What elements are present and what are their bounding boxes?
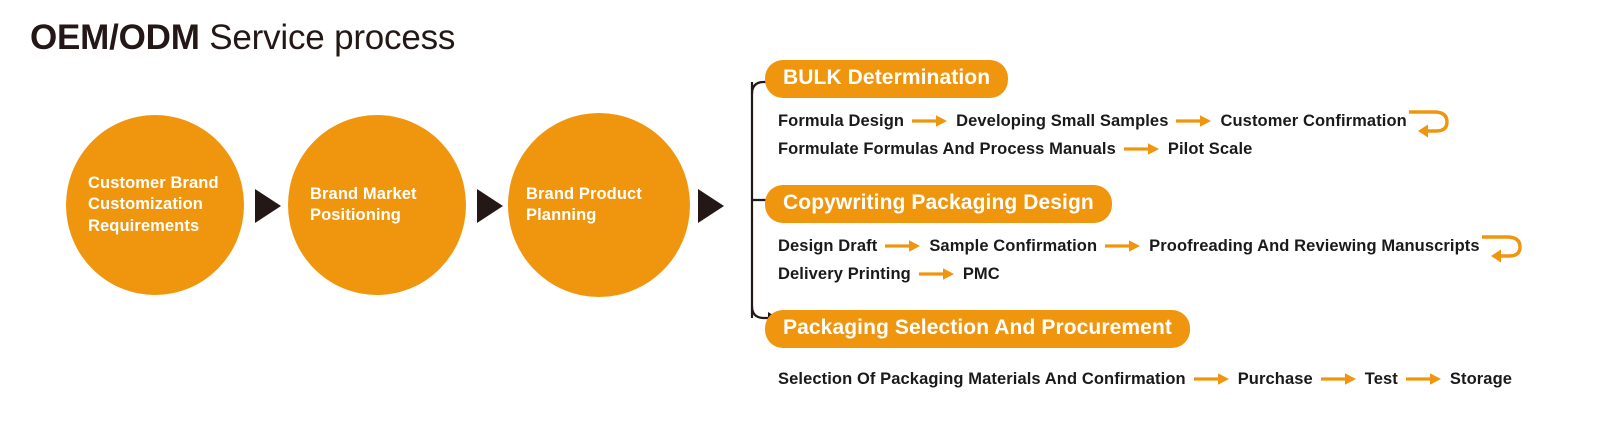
arrow-right-icon bbox=[1124, 142, 1160, 156]
step-label[interactable]: Test bbox=[1365, 369, 1398, 389]
stage-circle-1[interactable]: Customer Brand Customization Requirement… bbox=[66, 115, 244, 295]
step-label[interactable]: Formulate Formulas And Process Manuals bbox=[778, 139, 1116, 159]
page-title-strong: OEM/ODM bbox=[30, 18, 200, 57]
step-arrow bbox=[1194, 372, 1230, 386]
play-triangle-icon bbox=[255, 189, 281, 223]
arrow-right-icon bbox=[885, 239, 921, 253]
step-arrow bbox=[1105, 239, 1141, 253]
step-label[interactable]: Customer Confirmation bbox=[1220, 111, 1406, 131]
branch-steps-2: Design DraftSample ConfirmationProofread… bbox=[778, 233, 1526, 287]
step-label[interactable]: Storage bbox=[1450, 369, 1512, 389]
step-arrow bbox=[1124, 142, 1160, 156]
step-arrow bbox=[1321, 372, 1357, 386]
step-row: Formulate Formulas And Process ManualsPi… bbox=[778, 136, 1453, 162]
arrow-right-icon bbox=[1176, 114, 1212, 128]
arrow-right-icon bbox=[919, 267, 955, 281]
branch-steps-1: Formula DesignDeveloping Small SamplesCu… bbox=[778, 108, 1453, 162]
branch-section-3: Packaging Selection And Procurement Sele… bbox=[765, 310, 1512, 392]
step-arrow bbox=[1176, 114, 1212, 128]
step-label[interactable]: Proofreading And Reviewing Manuscripts bbox=[1149, 236, 1479, 256]
step-row: Design DraftSample ConfirmationProofread… bbox=[778, 233, 1526, 259]
branch-section-2: Copywriting Packaging Design Design Draf… bbox=[765, 185, 1526, 287]
stage-circle-1-label: Customer Brand Customization Requirement… bbox=[66, 173, 244, 238]
arrow-right-icon bbox=[912, 114, 948, 128]
step-arrow bbox=[885, 239, 921, 253]
page-title: OEM/ODM Service process bbox=[30, 17, 455, 59]
step-row: Selection Of Packaging Materials And Con… bbox=[778, 366, 1512, 392]
stage-circle-2-label: Brand Market Positioning bbox=[288, 184, 466, 227]
branch-section-1: BULK Determination Formula DesignDevelop… bbox=[765, 60, 1453, 162]
page-title-light: Service process bbox=[200, 18, 456, 57]
step-label[interactable]: Sample Confirmation bbox=[929, 236, 1097, 256]
step-label[interactable]: Pilot Scale bbox=[1168, 139, 1253, 159]
branch-steps-3: Selection Of Packaging Materials And Con… bbox=[778, 366, 1512, 392]
branch-pill-3[interactable]: Packaging Selection And Procurement bbox=[765, 310, 1190, 348]
arrow-uturn-icon bbox=[1480, 229, 1526, 263]
step-label[interactable]: Design Draft bbox=[778, 236, 877, 256]
arrow-right-icon bbox=[1105, 239, 1141, 253]
arrow-right-icon bbox=[1194, 372, 1230, 386]
step-label[interactable]: Delivery Printing bbox=[778, 264, 911, 284]
branch-pill-1[interactable]: BULK Determination bbox=[765, 60, 1008, 98]
branch-pill-2[interactable]: Copywriting Packaging Design bbox=[765, 185, 1112, 223]
step-arrow bbox=[912, 114, 948, 128]
stage-circle-3-label: Brand Product Planning bbox=[508, 184, 690, 227]
step-label[interactable]: Formula Design bbox=[778, 111, 904, 131]
diagram-canvas: OEM/ODM Service process Customer Brand C… bbox=[0, 0, 1600, 421]
arrow-right-icon bbox=[1321, 372, 1357, 386]
play-triangle-icon bbox=[698, 189, 724, 223]
step-row: Formula DesignDeveloping Small SamplesCu… bbox=[778, 108, 1453, 134]
step-label[interactable]: PMC bbox=[963, 264, 1000, 284]
step-arrow bbox=[919, 267, 955, 281]
step-label[interactable]: Purchase bbox=[1238, 369, 1313, 389]
arrow-uturn-icon bbox=[1407, 104, 1453, 138]
arrow-right-icon bbox=[1406, 372, 1442, 386]
step-row: Delivery PrintingPMC bbox=[778, 261, 1526, 287]
wrap-arrow bbox=[1407, 104, 1453, 138]
stage-circle-2[interactable]: Brand Market Positioning bbox=[288, 115, 466, 295]
step-label[interactable]: Selection Of Packaging Materials And Con… bbox=[778, 369, 1186, 389]
play-triangle-icon bbox=[477, 189, 503, 223]
wrap-arrow bbox=[1480, 229, 1526, 263]
step-label[interactable]: Developing Small Samples bbox=[956, 111, 1168, 131]
step-arrow bbox=[1406, 372, 1442, 386]
stage-circle-3[interactable]: Brand Product Planning bbox=[508, 113, 690, 297]
